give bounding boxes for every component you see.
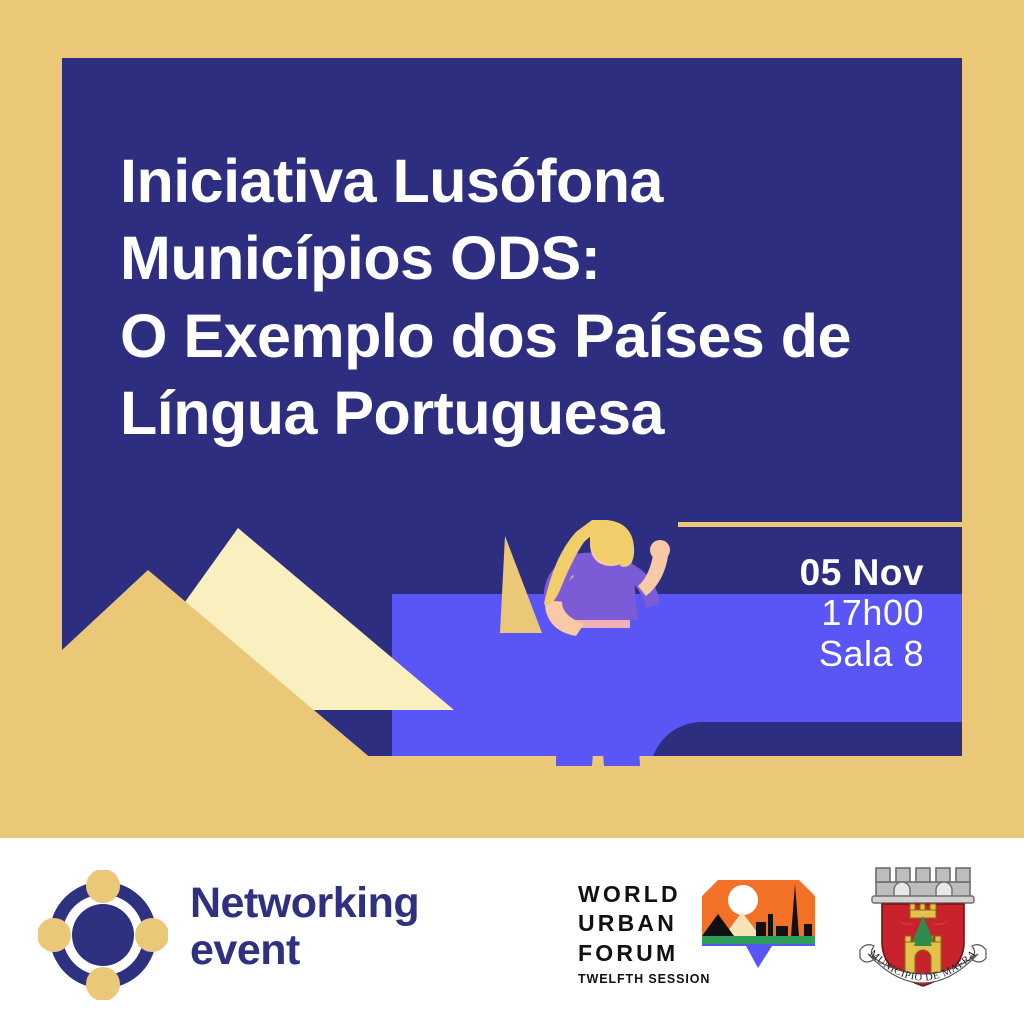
- title-line-1: Iniciativa Lusófona: [120, 143, 950, 220]
- castle-tower: [905, 904, 941, 974]
- ground-strip: [62, 756, 962, 776]
- badge-building-3: [776, 926, 788, 936]
- footer-logo-bar: Networking event WORLD URBAN FORUM TWELF…: [0, 838, 1024, 1024]
- title-line-3: O Exemplo dos Países de: [120, 298, 950, 375]
- badge-water: [696, 944, 821, 989]
- navy-content-panel: Iniciativa Lusófona Municípios ODS: O Ex…: [62, 58, 962, 776]
- event-date: 05 Nov: [624, 552, 924, 593]
- title-line-4: Língua Portuguesa: [120, 375, 950, 452]
- badge-building-2: [768, 914, 773, 936]
- logo-node-top: [86, 870, 120, 903]
- badge-building-4: [804, 924, 812, 936]
- networking-nodes-icon: [38, 870, 168, 1000]
- logo-node-left: [38, 918, 71, 952]
- castle-gate: [915, 950, 931, 974]
- title-line-2: Municípios ODS:: [120, 220, 950, 297]
- logo-node-bottom: [86, 967, 120, 1000]
- networking-line-2: event: [190, 927, 419, 974]
- world-urban-forum-logo: WORLD URBAN FORUM TWELFTH SESSION: [578, 870, 828, 990]
- event-time: 17h00: [624, 593, 924, 633]
- badge-building-1: [756, 922, 766, 936]
- badge-green-strip: [696, 936, 821, 944]
- mural-crown: [872, 868, 974, 903]
- municipio-de-mafra-coat-of-arms-icon: MUNICIPIO DE MAFRA: [848, 854, 998, 1004]
- networking-line-1: Networking: [190, 880, 419, 927]
- wuf-session-label: TWELFTH SESSION: [578, 972, 710, 986]
- badge-sun: [728, 885, 758, 915]
- date-divider-rule: [678, 522, 962, 527]
- poster-title: Iniciativa Lusófona Municípios ODS: O Ex…: [120, 143, 950, 453]
- event-details: 05 Nov 17h00 Sala 8: [624, 552, 924, 674]
- world-urban-forum-badge-icon: [696, 874, 821, 989]
- logo-node-right: [135, 918, 168, 952]
- wuf-line-forum: FORUM: [578, 939, 710, 968]
- event-room: Sala 8: [624, 634, 924, 674]
- poster-root: Iniciativa Lusófona Municípios ODS: O Ex…: [0, 0, 1024, 1024]
- logo-center-disc: [72, 904, 134, 966]
- wuf-line-urban: URBAN: [578, 909, 710, 938]
- networking-event-label: Networking event: [190, 880, 419, 975]
- wuf-wordmark: WORLD URBAN FORUM TWELFTH SESSION: [578, 880, 710, 986]
- wuf-line-world: WORLD: [578, 880, 710, 909]
